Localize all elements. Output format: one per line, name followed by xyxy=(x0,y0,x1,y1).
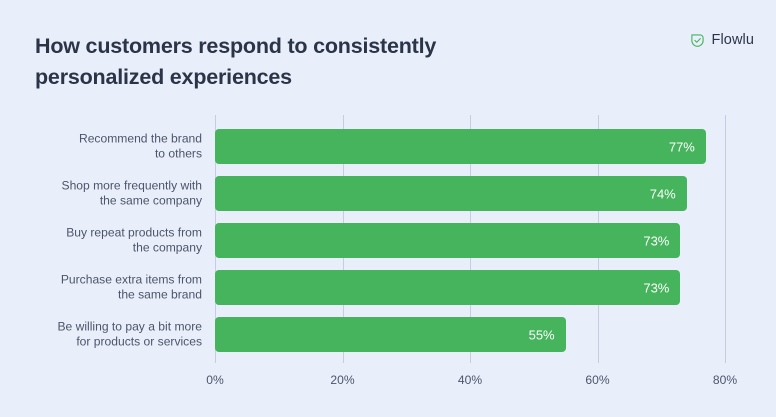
brand-name: Flowlu xyxy=(712,32,755,49)
chart-header: How customers respond to consistently pe… xyxy=(0,0,776,110)
bar-category-label: Purchase extra items from the same brand xyxy=(18,272,202,303)
bar-value-label: 73% xyxy=(643,233,669,248)
bar-fill[interactable]: 74% xyxy=(215,176,687,211)
bar-category-label: Buy repeat products from the company xyxy=(18,225,202,256)
bar-row: Buy repeat products from the company73% xyxy=(0,223,776,258)
bar-fill[interactable]: 77% xyxy=(215,129,706,164)
shield-check-icon xyxy=(689,32,706,49)
bar-fill[interactable]: 73% xyxy=(215,270,680,305)
bar-value-label: 74% xyxy=(650,186,676,201)
x-axis-tick-label: 60% xyxy=(585,373,609,387)
bar-fill[interactable]: 73% xyxy=(215,223,680,258)
x-axis-tick-label: 0% xyxy=(206,373,223,387)
x-axis: 0%20%40%60%80% xyxy=(0,363,776,393)
bar-value-label: 73% xyxy=(643,280,669,295)
brand-logo: Flowlu xyxy=(689,32,755,49)
page-title: How customers respond to consistently pe… xyxy=(35,31,555,93)
bar-category-label: Shop more frequently with the same compa… xyxy=(18,178,202,209)
bar-track: 55% xyxy=(215,317,566,352)
bar-category-label: Be willing to pay a bit more for product… xyxy=(18,319,202,350)
bar-category-label: Recommend the brand to others xyxy=(18,131,202,162)
bar-fill[interactable]: 55% xyxy=(215,317,566,352)
bar-value-label: 55% xyxy=(529,327,555,342)
x-axis-tick-label: 80% xyxy=(713,373,737,387)
bar-row: Shop more frequently with the same compa… xyxy=(0,176,776,211)
bar-value-label: 77% xyxy=(669,139,695,154)
bar-row: Purchase extra items from the same brand… xyxy=(0,270,776,305)
bar-track: 77% xyxy=(215,129,706,164)
bar-row: Be willing to pay a bit more for product… xyxy=(0,317,776,352)
x-axis-tick-label: 40% xyxy=(458,373,482,387)
bar-track: 74% xyxy=(215,176,687,211)
bar-chart: Recommend the brand to others77%Shop mor… xyxy=(0,110,776,417)
bar-row: Recommend the brand to others77% xyxy=(0,129,776,164)
bar-track: 73% xyxy=(215,223,680,258)
x-axis-tick-label: 20% xyxy=(330,373,354,387)
bar-track: 73% xyxy=(215,270,680,305)
